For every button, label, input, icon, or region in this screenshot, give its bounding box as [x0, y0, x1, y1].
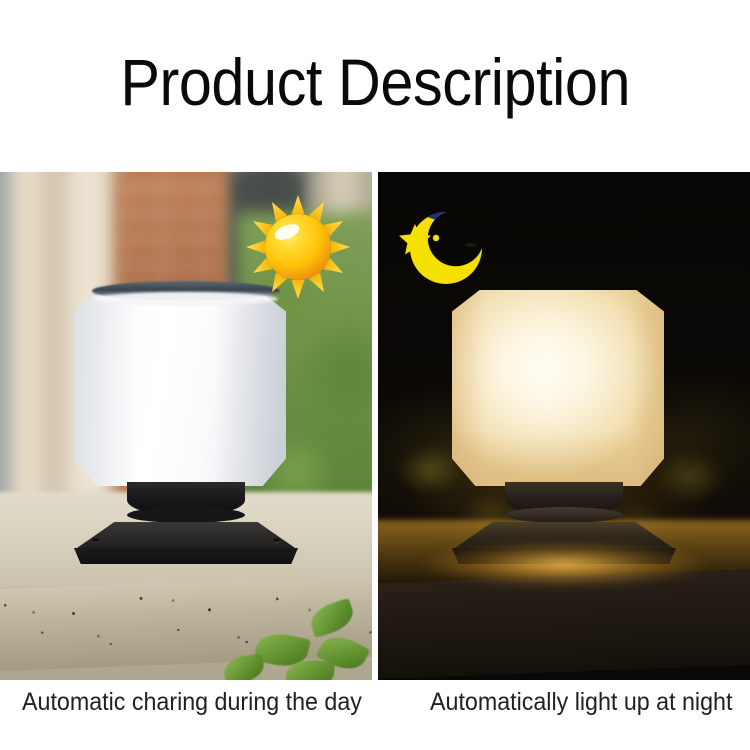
leaf — [307, 598, 357, 638]
light-spill-pool — [418, 540, 710, 588]
sun-icon — [242, 194, 354, 300]
base-plate-edge — [74, 548, 298, 564]
base-plate-top — [74, 522, 298, 550]
comparison-photo-strip — [0, 172, 750, 680]
crescent-moon-icon — [394, 196, 508, 300]
title-bar: Product Description — [0, 0, 750, 172]
collar-base-ellipse — [127, 507, 245, 523]
night-caption: Automatically light up at night — [430, 688, 732, 717]
day-lamp — [74, 290, 298, 562]
page-title: Product Description — [120, 49, 630, 115]
lamp-diffuser-on — [452, 290, 664, 486]
lamp-facet-left — [74, 290, 138, 486]
lamp-diffuser-off — [74, 290, 286, 486]
night-photo — [378, 172, 750, 680]
moon-sleeping-eye — [464, 243, 477, 247]
lamp-base-plate — [74, 522, 298, 562]
foreground-leaves — [228, 594, 372, 680]
lamp-edge-shading — [452, 290, 664, 486]
night-caption-cell: Automatically light up at night — [388, 680, 750, 750]
moon-night-cap — [414, 196, 482, 221]
base-screw-hole — [273, 538, 280, 542]
moon-sparkle-dot — [433, 235, 439, 241]
day-caption-cell: Automatic charing during the day — [0, 680, 388, 750]
day-photo — [0, 172, 372, 680]
lamp-collar — [127, 482, 245, 516]
caption-row: Automatic charing during the day Automat… — [0, 680, 750, 750]
leaf — [222, 653, 265, 680]
base-screw-hole — [92, 538, 99, 542]
product-description-page: Product Description — [0, 0, 750, 750]
moon-sparkle-dot — [419, 248, 424, 253]
sun-disc — [265, 214, 331, 280]
collar-base-ellipse — [505, 507, 623, 523]
lamp-facet-right — [214, 290, 286, 486]
day-caption: Automatic charing during the day — [22, 688, 362, 717]
night-lamp — [452, 290, 676, 562]
lamp-collar — [505, 482, 623, 516]
